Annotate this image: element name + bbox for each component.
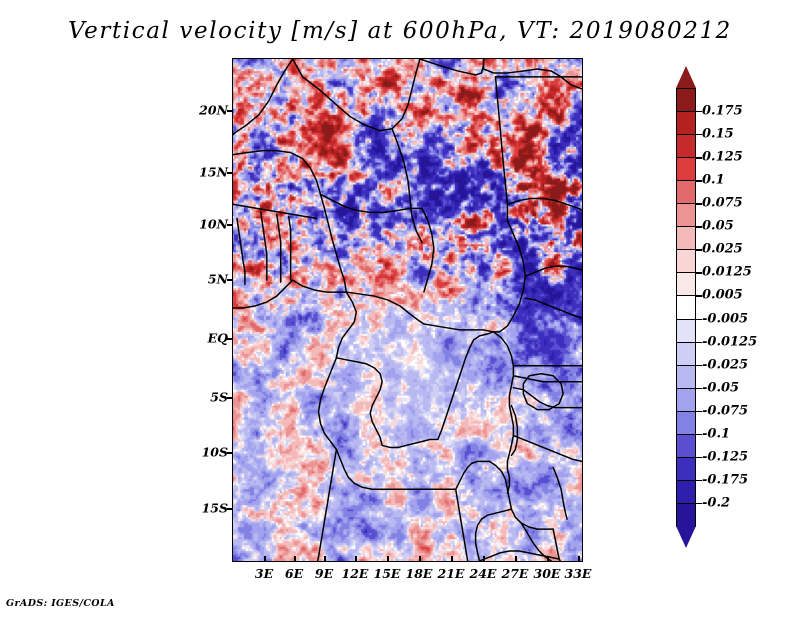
xtick-mark [264,556,266,562]
colorbar-band [676,226,696,250]
xtick-mark [547,556,549,562]
colorbar-band [676,411,696,435]
colorbar-tick-mark [696,180,702,181]
colorbar-tick-label: 0.125 [702,150,743,165]
country-borders-overlay [233,59,582,561]
xtick-mark [515,556,517,562]
colorbar-tick-label: -0.025 [702,357,748,372]
xtick-mark [355,556,357,562]
colorbar-tick-mark [696,434,702,435]
colorbar-band [676,157,696,181]
colorbar-tick-label: -0.1 [702,426,730,441]
chart-title: Vertical velocity [m/s] at 600hPa, VT: 2… [0,18,800,44]
ytick-mark [227,338,233,340]
xtick-mark [419,556,421,562]
xtick-label-12E: 12E [342,566,369,581]
colorbar-tick-mark [696,365,702,366]
colorbar-band [676,388,696,412]
colorbar-tick-mark [696,111,702,112]
xtick-label-24E: 24E [470,566,497,581]
colorbar-tick-label: 0.1 [702,173,725,188]
colorbar-tick-mark [696,272,702,273]
figure-canvas: Vertical velocity [m/s] at 600hPa, VT: 2… [0,0,800,618]
colorbar-tick-label: 0.025 [702,242,743,257]
colorbar-tick-label: -0.05 [702,380,739,395]
colorbar-tick-label: 0.175 [702,104,743,119]
colorbar-tick-label: -0.005 [702,311,748,326]
colorbar-band [676,111,696,135]
xtick-mark [324,556,326,562]
ytick-mark [227,279,233,281]
colorbar-tick-mark [696,249,702,250]
ytick-label-15S: 15S [198,501,228,516]
ytick-label-EQ: EQ [198,331,228,346]
xtick-mark [294,556,296,562]
colorbar-band [676,480,696,504]
xtick-label-18E: 18E [406,566,433,581]
colorbar-band [676,457,696,481]
colorbar-tick-mark [696,157,702,158]
colorbar-max-arrow [676,66,696,88]
colorbar-band [676,272,696,296]
xtick-label-27E: 27E [502,566,529,581]
colorbar-tick-label: 0.005 [702,288,743,303]
attribution-footer: GrADS: IGES/COLA [6,598,115,609]
colorbar-tick-mark [696,411,702,412]
colorbar-band [676,88,696,112]
colorbar-band [676,319,696,343]
colorbar-tick-mark [696,503,702,504]
xtick-label-33E: 33E [565,566,592,581]
colorbar-tick-mark [696,342,702,343]
colorbar-band [676,203,696,227]
colorbar-tick-mark [696,134,702,135]
xtick-label-6E: 6E [285,566,303,581]
ytick-mark [227,397,233,399]
colorbar-tick-mark [696,457,702,458]
xtick-label-21E: 21E [438,566,465,581]
colorbar-min-arrow [676,526,696,548]
colorbar-band [676,434,696,458]
ytick-mark [227,452,233,454]
colorbar-tick-mark [696,226,702,227]
colorbar-tick-label: -0.125 [702,449,748,464]
colorbar-tick-mark [696,480,702,481]
ytick-mark [227,110,233,112]
colorbar-tick-label: 0.075 [702,196,743,211]
ytick-mark [227,224,233,226]
ytick-label-20N: 20N [198,103,228,118]
colorbar-tick-label: 0.05 [702,219,734,234]
colorbar [676,66,696,548]
colorbar-tick-label: -0.175 [702,472,748,487]
xtick-mark [387,556,389,562]
colorbar-tick-label: 0.0125 [702,265,752,280]
xtick-label-3E: 3E [255,566,273,581]
colorbar-band [676,342,696,366]
ytick-label-5N: 5N [198,272,228,287]
colorbar-tick-mark [696,203,702,204]
map-plot-panel [232,58,583,562]
colorbar-tick-mark [696,295,702,296]
colorbar-band [676,295,696,319]
ytick-label-10N: 10N [198,217,228,232]
colorbar-band [676,365,696,389]
xtick-label-9E: 9E [315,566,333,581]
colorbar-tick-mark [696,319,702,320]
colorbar-band [676,249,696,273]
xtick-label-30E: 30E [534,566,561,581]
ytick-label-15N: 15N [198,165,228,180]
colorbar-tick-label: -0.0125 [702,334,757,349]
colorbar-tick-mark [696,388,702,389]
xtick-mark [578,556,580,562]
ytick-mark [227,508,233,510]
colorbar-band [676,503,696,527]
colorbar-band [676,134,696,158]
ytick-label-10S: 10S [198,445,228,460]
colorbar-tick-label: -0.2 [702,495,730,510]
xtick-mark [451,556,453,562]
colorbar-tick-label: 0.15 [702,127,734,142]
xtick-label-15E: 15E [374,566,401,581]
ytick-label-5S: 5S [198,390,228,405]
xtick-mark [483,556,485,562]
colorbar-band [676,180,696,204]
colorbar-tick-label: -0.075 [702,403,748,418]
ytick-mark [227,172,233,174]
